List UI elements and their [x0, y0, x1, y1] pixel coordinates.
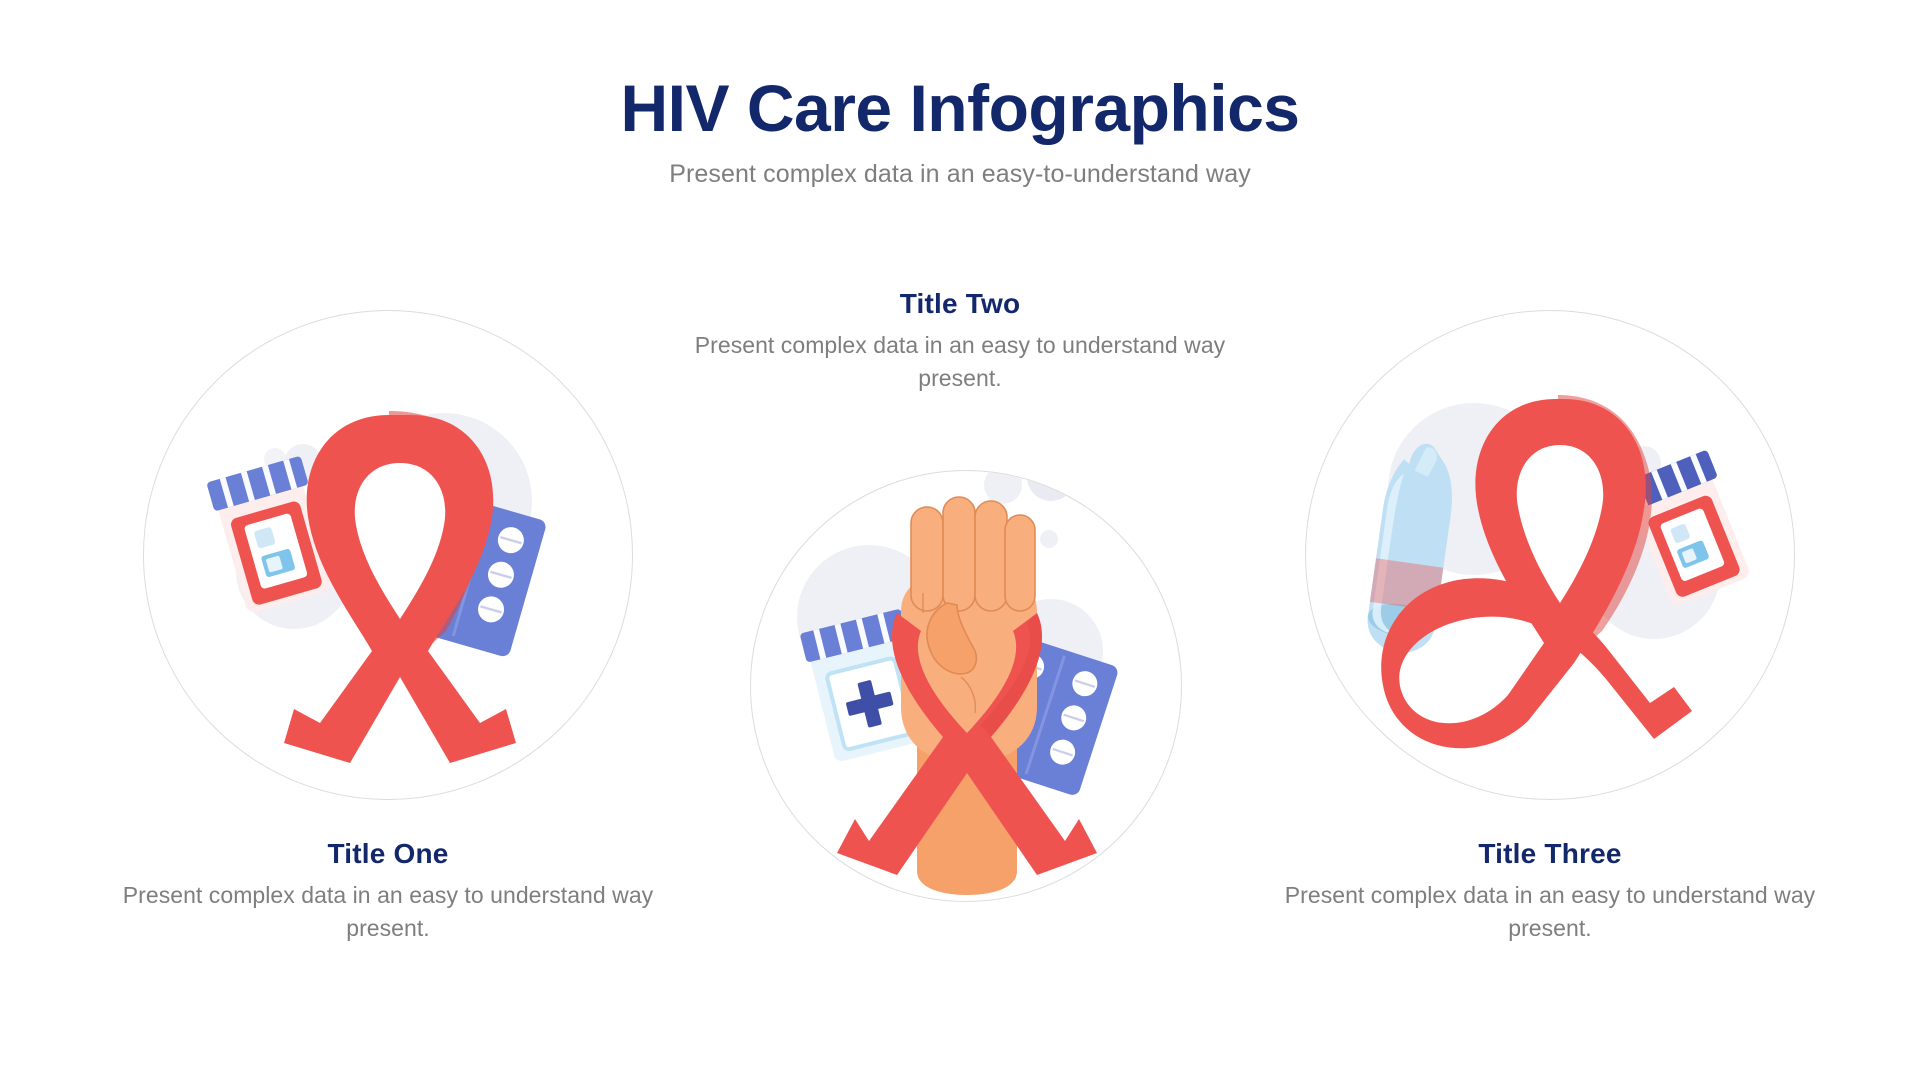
condom-band-overlay: [1370, 558, 1443, 611]
card-one-body: Present complex data in an easy to under…: [88, 879, 688, 944]
ribbon-condom-pillbottle-illustration: [1306, 311, 1795, 800]
card-two-title: Title Two: [660, 288, 1260, 320]
decorative-bubble-3: [1040, 530, 1058, 548]
infographic-card-two[interactable]: Title Two Present complex data in an eas…: [660, 280, 1260, 1060]
caption-one: Title One Present complex data in an eas…: [88, 838, 688, 945]
illustration-circle-one: [143, 310, 633, 800]
illustration-circle-three: [1305, 310, 1795, 800]
decorative-bubble-2: [1027, 471, 1075, 501]
page-header: HIV Care Infographics Present complex da…: [0, 74, 1920, 189]
page-subtitle: Present complex data in an easy-to-under…: [0, 159, 1920, 189]
caption-three: Title Three Present complex data in an e…: [1250, 838, 1850, 945]
ribbon-pillbottle-blisterpack-illustration: [144, 311, 633, 800]
page-title: HIV Care Infographics: [0, 74, 1920, 143]
card-three-title: Title Three: [1250, 838, 1850, 870]
illustration-circle-two: [750, 470, 1182, 902]
card-two-body: Present complex data in an easy to under…: [660, 329, 1260, 394]
infographic-card-three[interactable]: Title Three Present complex data in an e…: [1250, 300, 1850, 980]
card-three-body: Present complex data in an easy to under…: [1250, 879, 1850, 944]
fist-ribbon-medicinebox-blisterpack-illustration: [751, 471, 1182, 902]
caption-two: Title Two Present complex data in an eas…: [660, 288, 1260, 395]
infographic-card-one[interactable]: Title One Present complex data in an eas…: [88, 300, 688, 980]
card-one-title: Title One: [88, 838, 688, 870]
decorative-bubble-1: [984, 471, 1022, 504]
